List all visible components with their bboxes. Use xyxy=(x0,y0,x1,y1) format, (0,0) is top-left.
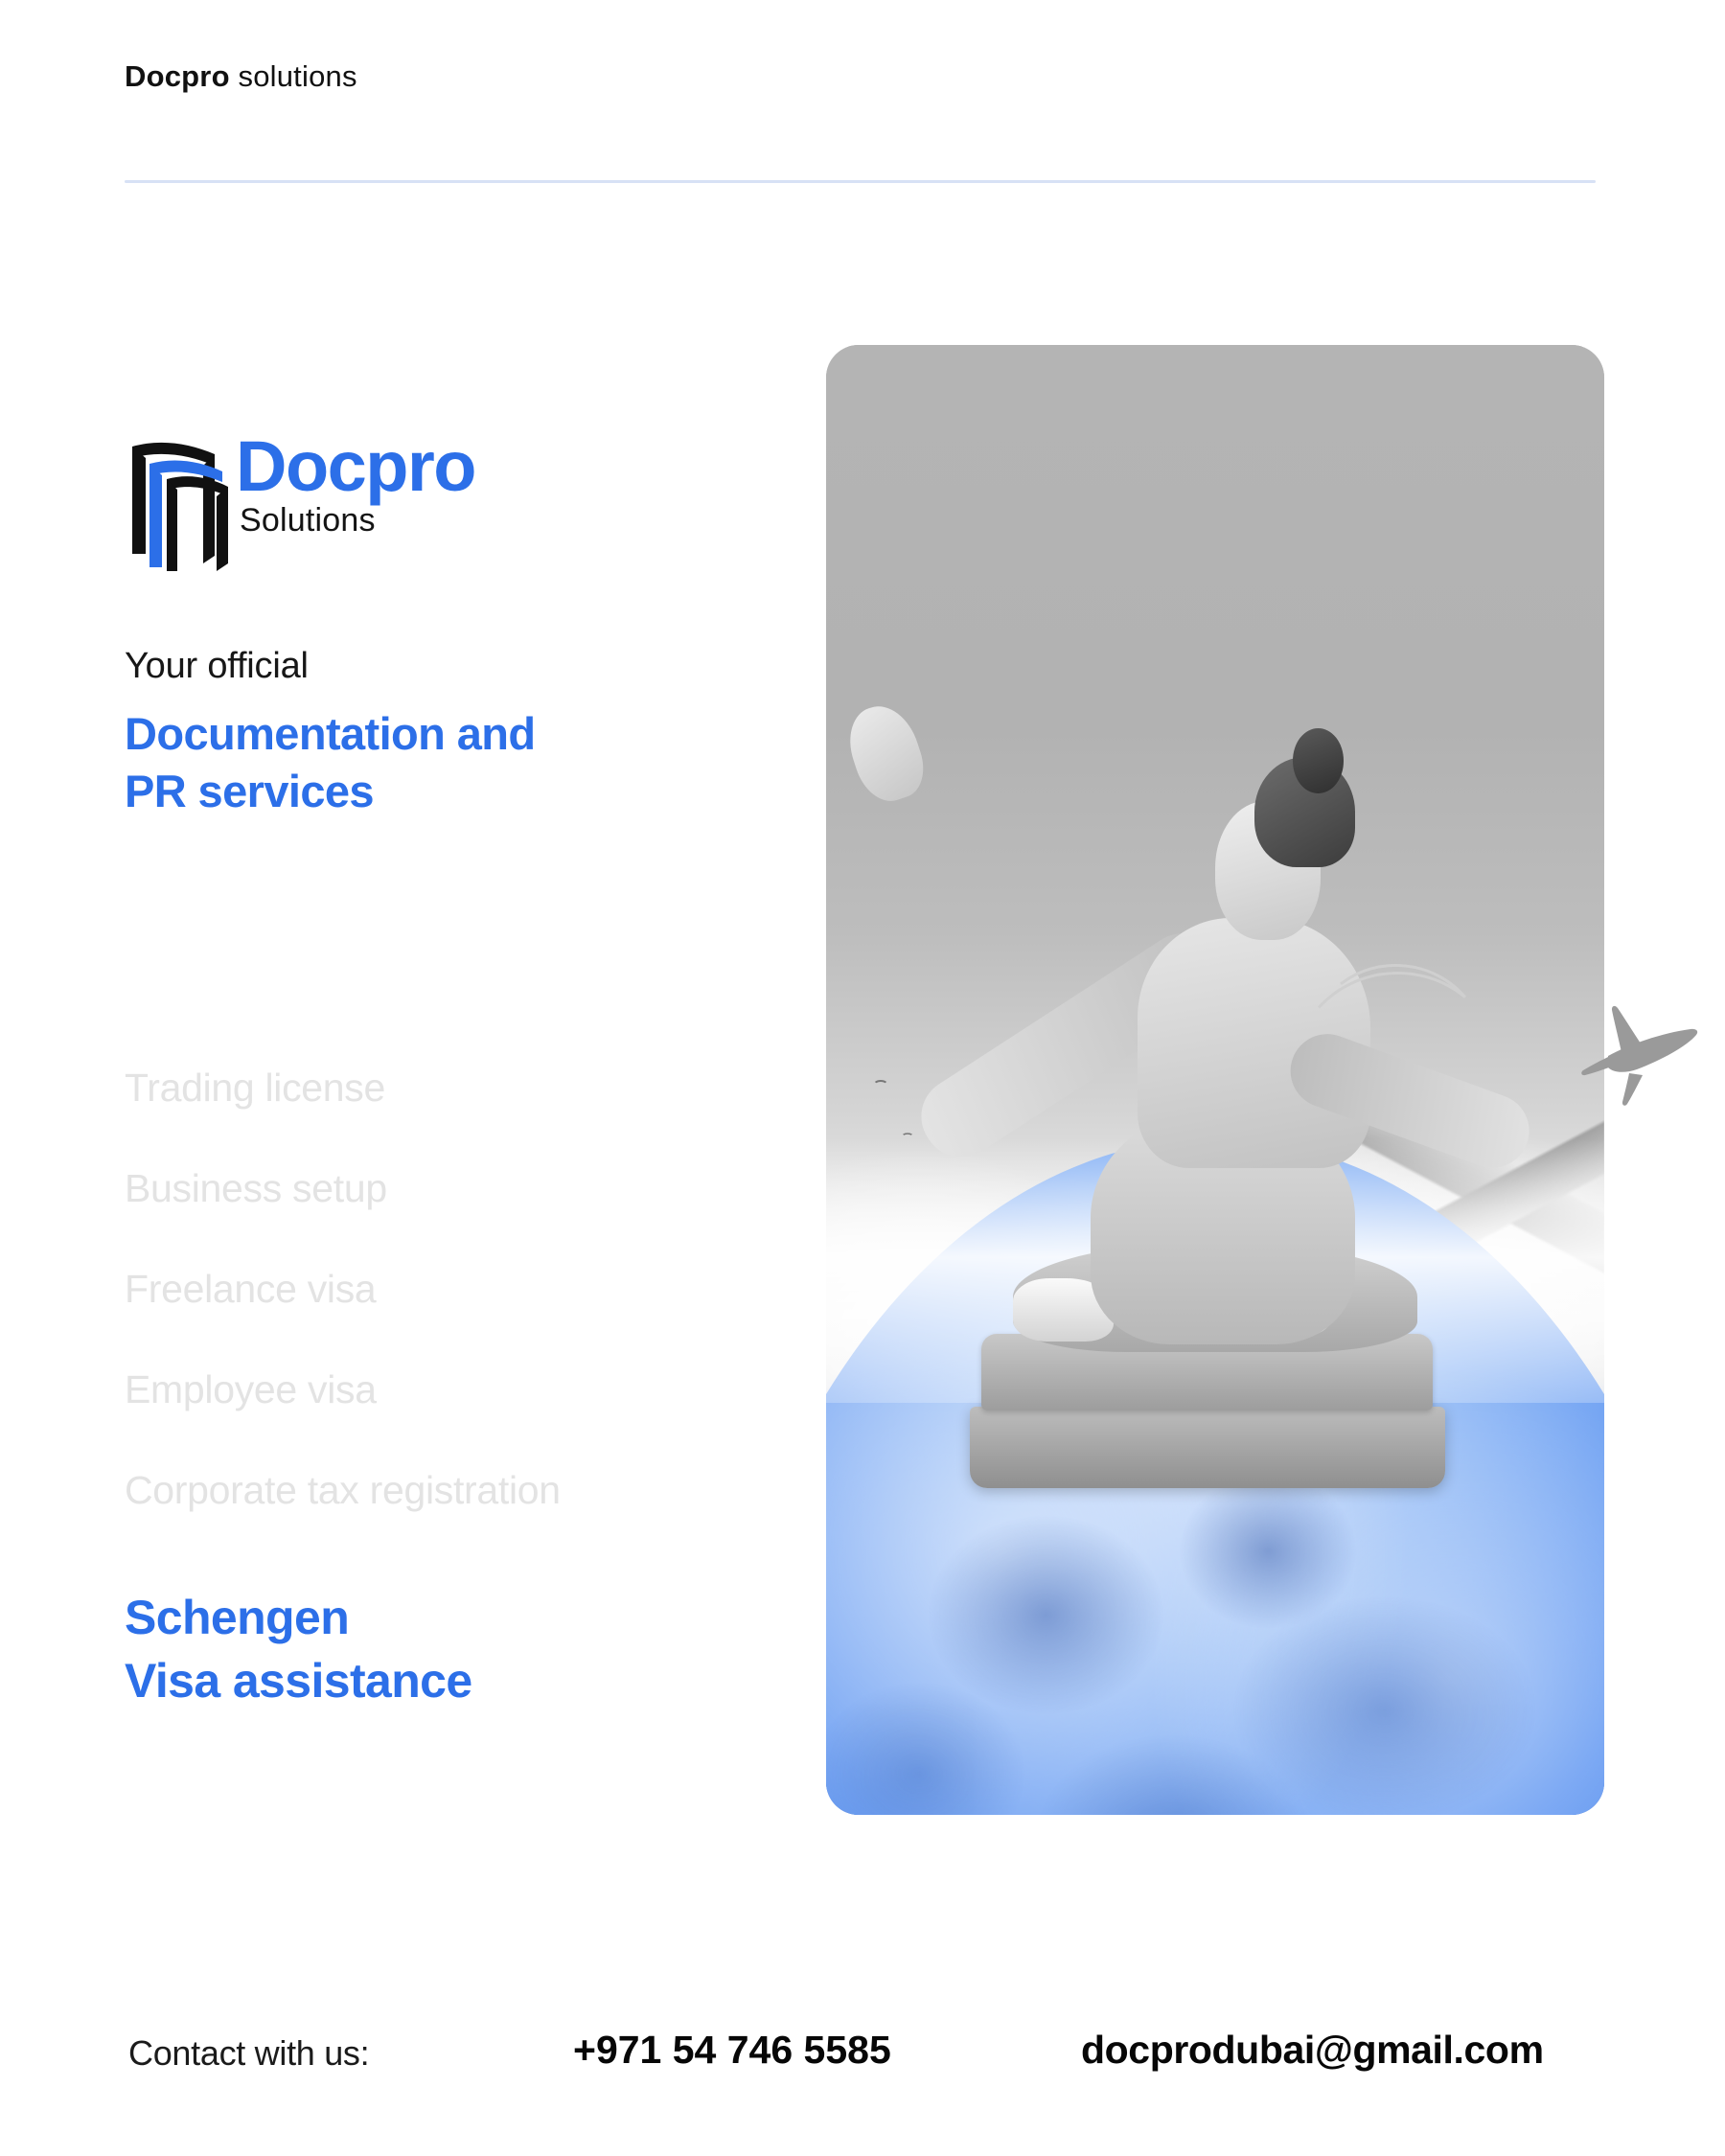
header-brand: Docpro solutions xyxy=(125,59,357,94)
book-pages-icon xyxy=(123,437,230,571)
highlight-line-2: Visa assistance xyxy=(125,1649,795,1712)
tagline-block: Your official Documentation and PR servi… xyxy=(125,644,795,820)
tagline-line-2: Documentation and xyxy=(125,705,795,763)
bird-icon xyxy=(873,1080,888,1090)
logo-lockup: Docpro Solutions xyxy=(123,433,525,577)
airplane-icon xyxy=(1579,997,1702,1112)
service-item-business-setup[interactable]: Business setup xyxy=(125,1169,795,1208)
contact-phone[interactable]: +971 54 746 5585 xyxy=(573,2028,891,2073)
logo-wordmark: Docpro Solutions xyxy=(236,429,523,573)
highlight-service: Schengen Visa assistance xyxy=(125,1586,795,1712)
suitcase-lower xyxy=(970,1407,1444,1489)
service-item-freelance-visa[interactable]: Freelance visa xyxy=(125,1270,795,1309)
figure-hair-bun xyxy=(1293,728,1344,792)
service-item-trading-license[interactable]: Trading license xyxy=(125,1068,795,1108)
header-brand-light: solutions xyxy=(230,59,357,93)
service-list: Trading license Business setup Freelance… xyxy=(125,1068,795,1510)
footer-contact-bar: Contact with us: +971 54 746 5585 docpro… xyxy=(0,2024,1725,2110)
contact-email[interactable]: docprodubai@gmail.com xyxy=(1081,2028,1544,2073)
service-item-employee-visa[interactable]: Employee visa xyxy=(125,1370,795,1410)
service-item-corporate-tax-registration[interactable]: Corporate tax registration xyxy=(125,1471,795,1510)
hero-photo-card xyxy=(826,345,1604,1815)
bird-icon xyxy=(902,1133,914,1141)
contact-label: Contact with us: xyxy=(128,2033,369,2074)
header-brand-bold: Docpro xyxy=(125,59,230,93)
logo-name: Docpro xyxy=(236,431,475,502)
header-divider xyxy=(125,180,1596,183)
logo-subtitle: Solutions xyxy=(240,504,376,537)
tagline-line-3: PR services xyxy=(125,763,795,820)
tagline-headline: Documentation and PR services xyxy=(125,705,795,820)
highlight-line-1: Schengen xyxy=(125,1586,795,1649)
tagline-line-1: Your official xyxy=(125,644,795,690)
